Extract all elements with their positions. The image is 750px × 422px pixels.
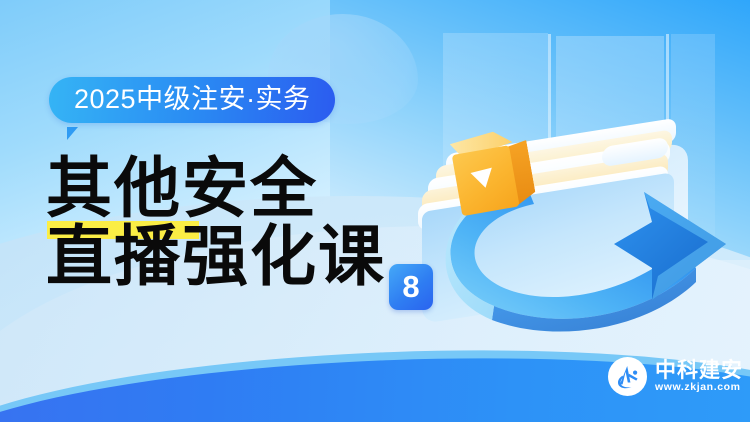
logo-mark-icon: [608, 357, 647, 396]
logo-brand-name: 中科建安: [655, 360, 743, 381]
logo-text-block: 中科建安 www.zkjan.com: [655, 360, 743, 393]
hero-illustration: [420, 40, 740, 340]
course-tag: 2025中级注安·实务: [49, 77, 335, 123]
headline-line-1: 其他安全: [46, 155, 466, 223]
tag-tail: [67, 127, 83, 140]
headline-line-1-text: 其他安全: [46, 149, 318, 227]
headline-line-2-text: 直播强化课: [46, 217, 386, 295]
logo-url: www.zkjan.com: [655, 382, 743, 393]
brand-logo[interactable]: 中科建安 www.zkjan.com: [608, 357, 743, 396]
episode-number-badge: 8: [389, 264, 433, 310]
course-banner: 2025中级注安·实务 其他安全 直播强化课 8 中科建安 www.zkjan.…: [0, 0, 750, 422]
